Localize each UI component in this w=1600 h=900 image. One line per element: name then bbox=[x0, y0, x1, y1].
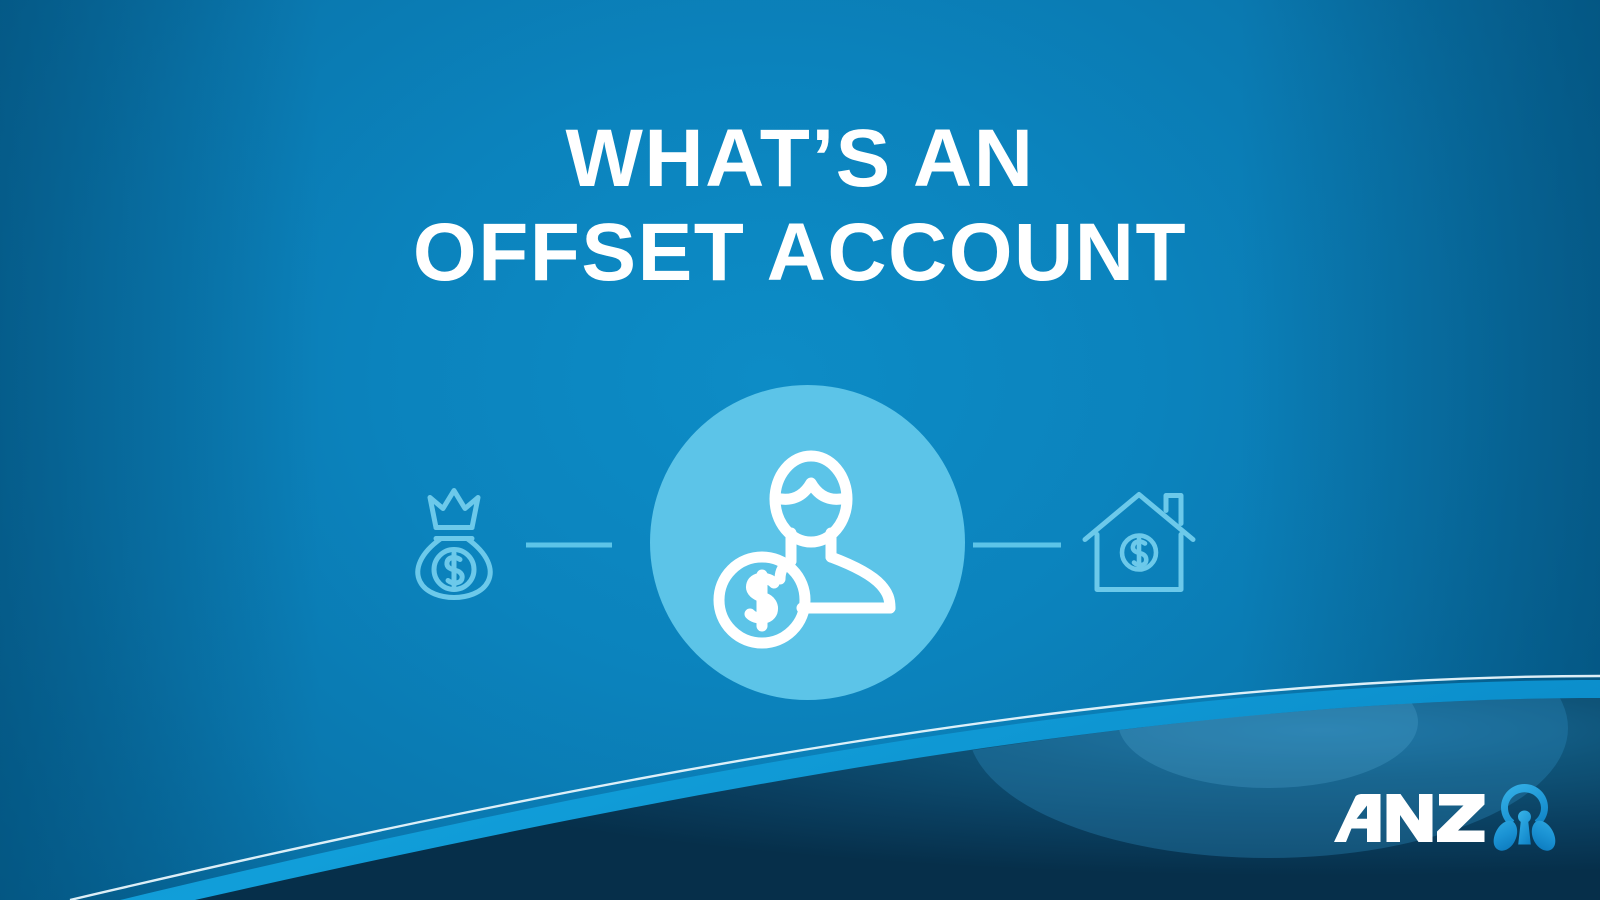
left-connector-line bbox=[526, 543, 612, 548]
money-bag-icon bbox=[410, 484, 506, 607]
anz-wordmark bbox=[1334, 794, 1485, 842]
offset-account-diagram bbox=[0, 385, 1600, 705]
house-with-dollar-icon bbox=[1082, 491, 1196, 600]
right-connector-line bbox=[973, 543, 1061, 548]
anz-human-figure-logo bbox=[1494, 784, 1556, 851]
money-bag-glyph bbox=[410, 484, 506, 602]
slide-canvas: WHAT’S AN OFFSET ACCOUNT bbox=[0, 0, 1600, 900]
house-glyph bbox=[1082, 491, 1196, 595]
person-with-coin-glyph bbox=[650, 385, 965, 700]
person-with-coin-icon bbox=[650, 385, 965, 700]
anz-logo[interactable] bbox=[1334, 782, 1562, 854]
